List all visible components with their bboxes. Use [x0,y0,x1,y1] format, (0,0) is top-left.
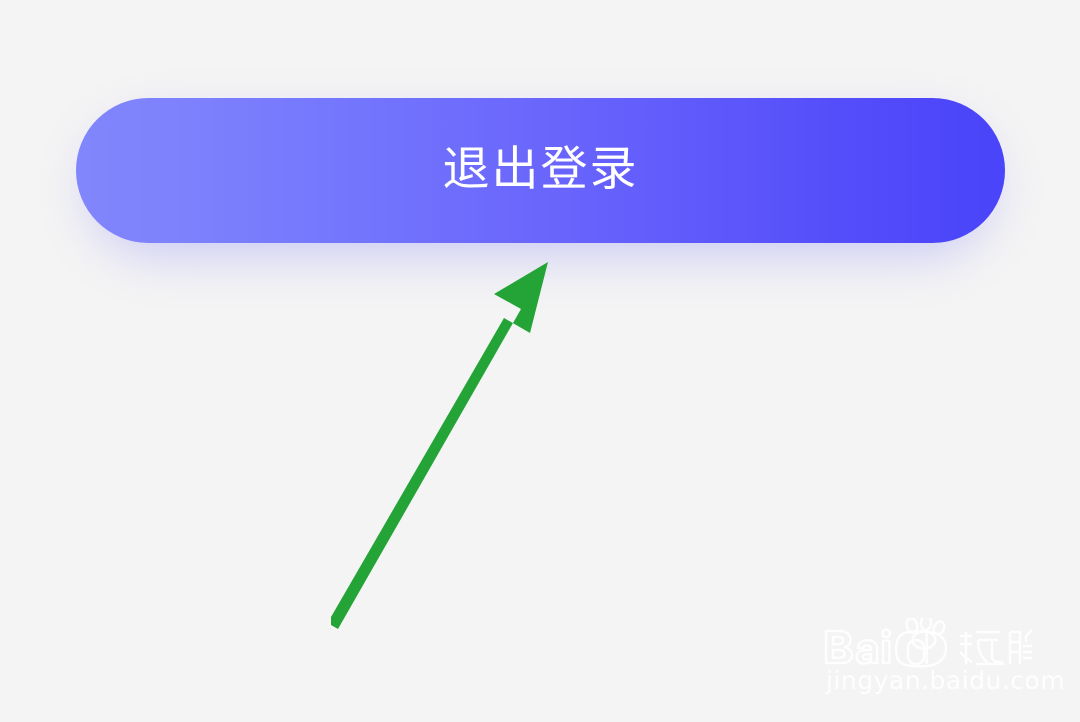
watermark: jingyan.baidu.com [820,618,1032,704]
watermark-url: jingyan.baidu.com [826,666,1032,696]
logout-button-container: 退出登录 [76,98,1005,243]
logout-button-label: 退出登录 [443,146,639,196]
screen-root: 退出登录 [0,0,1080,722]
logout-button[interactable]: 退出登录 [76,98,1005,243]
baidu-logo-icon [820,618,1032,670]
